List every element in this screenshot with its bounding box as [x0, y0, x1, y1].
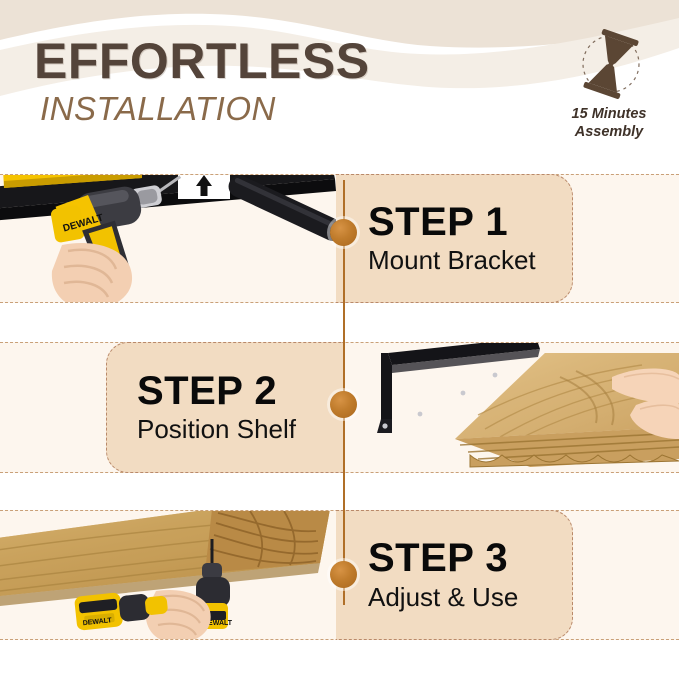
timeline-dot-step-1 [330, 219, 357, 246]
step-2-subtitle: Position Shelf [137, 414, 343, 444]
timeline-dot-step-3 [330, 561, 357, 588]
step-3-card[interactable]: STEP 3 Adjust & Use [336, 510, 573, 640]
hourglass-icon [545, 28, 673, 100]
page-subtitle: INSTALLATION [40, 92, 276, 125]
timeline-dot-step-2 [330, 391, 357, 418]
step-2-title: STEP 2 [137, 371, 343, 413]
assembly-time-line-2: Assembly [545, 124, 673, 142]
assembly-time-badge: 15 Minutes Assembly [545, 28, 673, 141]
assembly-time-label: 15 Minutes Assembly [545, 106, 673, 141]
page-title: EFFORTLESS [34, 36, 370, 86]
step-1-title: STEP 1 [368, 202, 572, 244]
step-2-card[interactable]: STEP 2 Position Shelf [106, 342, 343, 473]
step-3-title: STEP 3 [368, 538, 572, 580]
assembly-time-line-1: 15 Minutes [545, 106, 673, 124]
step-3-subtitle: Adjust & Use [368, 582, 572, 612]
step-1-subtitle: Mount Bracket [368, 245, 572, 275]
step-1-card[interactable]: STEP 1 Mount Bracket [336, 174, 573, 303]
infographic-canvas: EFFORTLESS INSTALLATION 15 Minutes Assem… [0, 0, 679, 679]
